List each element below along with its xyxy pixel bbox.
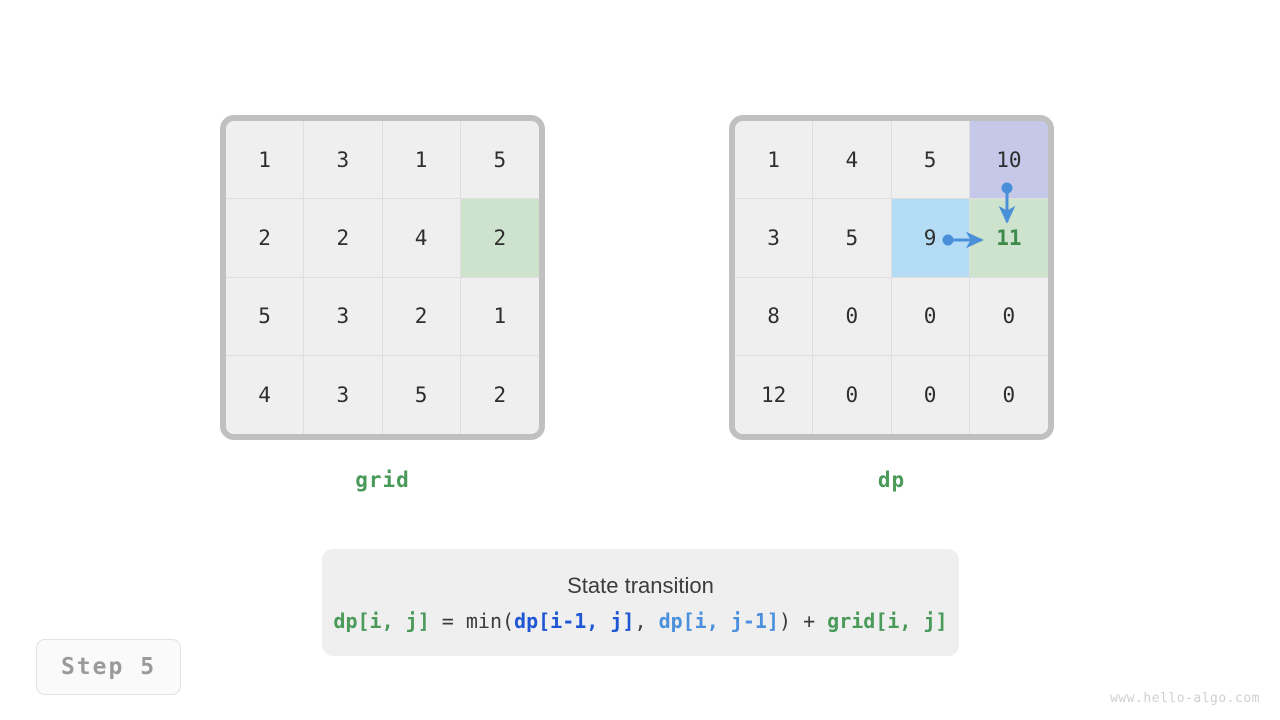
grid-cell-1-2: 4 [383,199,461,277]
formula-expression: dp[i, j] = min(dp[i-1, j], dp[i, j-1]) +… [333,609,947,633]
dp-cell-3-0: 12 [735,356,813,434]
dp-cell-1-1: 5 [813,199,891,277]
dp-cell-2-2: 0 [892,278,970,356]
grid-cell-1-0: 2 [226,199,304,277]
dp-cell-1-2: 9 [892,199,970,277]
grid-cell-0-3: 5 [461,121,539,199]
grid-cell-2-3: 1 [461,278,539,356]
grid-cell-3-0: 4 [226,356,304,434]
dp-cell-2-0: 8 [735,278,813,356]
state-transition-box: State transition dp[i, j] = min(dp[i-1, … [322,549,959,656]
formula-part-min-open: min( [466,609,514,633]
dp-cell-1-3: 11 [970,199,1048,277]
dp-cell-0-3: 10 [970,121,1048,199]
formula-part-grid-ij: grid[i, j] [827,609,947,633]
grid-cell-1-3: 2 [461,199,539,277]
formula-part-dp-ij: dp[i, j] [333,609,429,633]
grid-cell-3-3: 2 [461,356,539,434]
grid-cell-2-2: 2 [383,278,461,356]
dp-cell-3-2: 0 [892,356,970,434]
formula-part-comma: , [634,609,658,633]
grid-matrix-container: 1 3 1 5 2 2 4 2 5 3 2 1 4 3 5 2 grid [220,115,545,440]
grid-matrix-cells: 1 3 1 5 2 2 4 2 5 3 2 1 4 3 5 2 [226,121,539,434]
grid-cell-1-1: 2 [304,199,382,277]
grid-cell-3-1: 3 [304,356,382,434]
dp-cell-0-2: 5 [892,121,970,199]
dp-cell-0-0: 1 [735,121,813,199]
grid-cell-0-1: 3 [304,121,382,199]
grid-cell-2-0: 5 [226,278,304,356]
dp-cell-3-1: 0 [813,356,891,434]
formula-part-dp-i-j1: dp[i, j-1] [659,609,779,633]
formula-part-equals: = [430,609,466,633]
formula-part-dp-i1-j: dp[i-1, j] [514,609,634,633]
dp-cell-2-3: 0 [970,278,1048,356]
step-badge: Step 5 [36,639,181,695]
grid-matrix-label: grid [220,468,545,492]
watermark: www.hello-algo.com [1110,691,1260,706]
dp-matrix-cells: 1 4 5 10 3 5 9 11 8 0 0 0 12 0 0 0 [735,121,1048,434]
grid-cell-2-1: 3 [304,278,382,356]
dp-cell-2-1: 0 [813,278,891,356]
dp-cell-0-1: 4 [813,121,891,199]
formula-part-close-plus: ) + [779,609,827,633]
formula-title: State transition [567,573,714,599]
dp-matrix-container: 1 4 5 10 3 5 9 11 8 0 0 0 12 0 0 0 dp [729,115,1054,440]
dp-matrix-label: dp [729,468,1054,492]
dp-matrix: 1 4 5 10 3 5 9 11 8 0 0 0 12 0 0 0 [729,115,1054,440]
dp-cell-3-3: 0 [970,356,1048,434]
grid-cell-0-0: 1 [226,121,304,199]
dp-cell-1-0: 3 [735,199,813,277]
grid-matrix: 1 3 1 5 2 2 4 2 5 3 2 1 4 3 5 2 [220,115,545,440]
grid-cell-3-2: 5 [383,356,461,434]
grid-cell-0-2: 1 [383,121,461,199]
